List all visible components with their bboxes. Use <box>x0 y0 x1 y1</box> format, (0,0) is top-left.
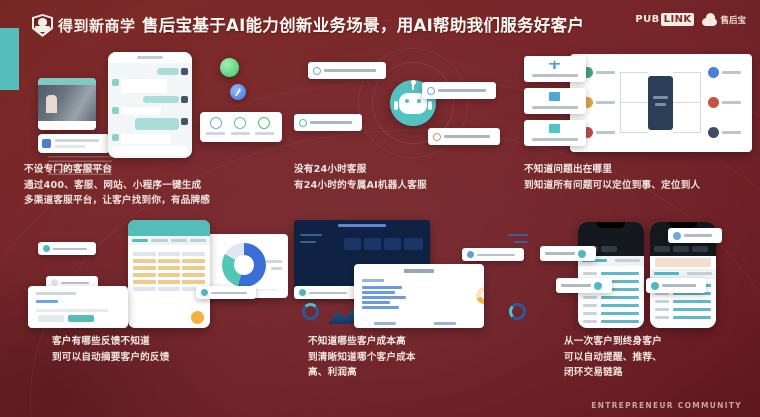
caption-line: 不知道问题出在哪里 <box>524 162 760 178</box>
cell-ai-robot-service: 没有24小时客服 有24小时的专属AI机器人客服 <box>294 50 526 215</box>
callout-pill <box>668 228 722 243</box>
brand: 得到新商学 <box>32 14 136 37</box>
label-chip <box>294 286 356 299</box>
bi-dashboard-mock <box>294 220 534 328</box>
side-tab <box>524 56 586 82</box>
partner-logo: 售后宝 <box>702 13 746 26</box>
cell-issue-routing: 不知道问题出在哪里 到知道所有问题可以定位到事、定位到人 <box>524 50 760 215</box>
ticket-table <box>133 252 205 294</box>
table-row <box>133 259 205 263</box>
table-row <box>133 287 205 291</box>
caption-line: 多渠道客服平台，让客户找到你，有品牌感 <box>24 193 286 209</box>
analytics-card <box>354 264 484 328</box>
list-item <box>655 300 711 303</box>
ai-robot-mock <box>294 50 526 158</box>
table-row <box>133 266 205 270</box>
cloud-icon <box>702 13 717 26</box>
routing-source-node <box>582 127 615 138</box>
caption-line: 没有24小时客服 <box>294 162 526 178</box>
mobile-app-mock <box>540 220 760 328</box>
list-item <box>655 308 711 311</box>
caption-cost-profit-analytics: 不知道哪些客户成本高 到清晰知道哪个客户成本 高、利润高 <box>308 334 548 381</box>
list-item <box>583 272 639 275</box>
list-item <box>583 304 639 307</box>
confirm-button[interactable] <box>68 315 94 322</box>
feature-tag <box>294 114 362 131</box>
caption-ai-robot-service: 没有24小时客服 有24小时的专属AI机器人客服 <box>294 162 526 193</box>
feedback-dashboard-mock <box>24 220 286 328</box>
cell-multichannel-service: 不设专门的客服平台 通过400、客服、网站、小程序一键生成 多渠道客服平台，让客… <box>24 50 286 215</box>
table-row <box>133 252 205 256</box>
caption-line: 到知道所有问题可以定位到事、定位到人 <box>524 178 760 194</box>
content-grid: 不设专门的客服平台 通过400、客服、网站、小程序一键生成 多渠道客服平台，让客… <box>0 48 760 396</box>
caption-line: 不设专门的客服平台 <box>24 162 286 178</box>
routing-diagram-mock <box>524 50 760 158</box>
slide-canvas: 得到新商学 售后宝基于AI能力创新业务场景，用AI帮助我们服务好客户 PUB L… <box>0 0 760 417</box>
routing-source-node <box>582 67 615 78</box>
brand-name: 得到新商学 <box>58 15 136 36</box>
status-dot-green <box>220 58 239 77</box>
hierarchy-icon <box>549 60 560 69</box>
list-item <box>583 296 639 299</box>
doc-icon <box>42 139 51 148</box>
slide-header: 得到新商学 售后宝基于AI能力创新业务场景，用AI帮助我们服务好客户 PUB L… <box>0 0 760 48</box>
caption-line: 到清晰知道哪个客户成本 <box>308 350 548 366</box>
callout-pill <box>540 246 596 261</box>
list-item <box>583 312 639 315</box>
table-row <box>133 280 205 284</box>
footer-text: ENTREPRENEUR COMMUNITY <box>591 401 742 410</box>
cell-feedback-summary: 客户有哪些反馈不知道 到可以自动摘要客户的反馈 <box>24 220 286 392</box>
phone-mock-left <box>578 222 644 328</box>
routing-board <box>570 54 752 152</box>
caption-lifetime-customer: 从一次客户到终身客户 可以自动提醒、推荐、 闭环交易链路 <box>564 334 760 381</box>
list-item <box>583 320 639 323</box>
publink-link-text: LINK <box>661 13 695 26</box>
caption-line: 有24小时的专属AI机器人客服 <box>294 178 526 194</box>
table-row <box>133 273 205 277</box>
routing-hub-node <box>648 76 673 130</box>
feature-tag <box>422 82 496 99</box>
label-chip <box>38 242 96 255</box>
shield-scholar-icon <box>32 14 53 37</box>
side-tab <box>524 120 586 146</box>
action-toolbar <box>200 112 282 142</box>
cell-cost-profit-analytics: 不知道哪些客户成本高 到清晰知道哪个客户成本 高、利润高 <box>294 220 534 392</box>
page-title: 售后宝基于AI能力创新业务场景，用AI帮助我们服务好客户 <box>142 12 584 36</box>
routing-target-node <box>708 67 741 78</box>
caption-multichannel-service: 不设专门的客服平台 通过400、客服、网站、小程序一键生成 多渠道客服平台，让客… <box>24 162 286 209</box>
grid-icon <box>549 124 560 133</box>
caption-issue-routing: 不知道问题出在哪里 到知道所有问题可以定位到事、定位到人 <box>524 162 760 193</box>
feature-tag <box>428 128 500 145</box>
label-chip <box>196 286 256 299</box>
form-buttons <box>38 315 94 322</box>
cancel-button[interactable] <box>38 315 64 322</box>
calendar-icon <box>549 92 560 101</box>
publink-pub-text: PUB <box>635 14 659 25</box>
donut-chart <box>222 243 266 287</box>
routing-target-node <box>708 97 741 108</box>
routing-target-node <box>708 127 741 138</box>
note-card <box>38 134 110 153</box>
fab-button[interactable] <box>191 311 204 324</box>
caption-line: 可以自动提醒、推荐、 <box>564 350 760 366</box>
caption-line: 高、利润高 <box>308 365 548 381</box>
partner-logos: PUB LINK 售后宝 <box>635 13 746 26</box>
chat-phone-mock <box>108 52 192 158</box>
callout-pill <box>646 278 706 293</box>
routing-source-node <box>582 97 615 108</box>
ticket-panel <box>128 220 210 328</box>
feature-tag <box>308 62 386 79</box>
caption-feedback-summary: 客户有哪些反馈不知道 到可以自动摘要客户的反馈 <box>52 334 314 365</box>
cell-lifetime-customer: 从一次客户到终身客户 可以自动提醒、推荐、 闭环交易链路 <box>540 220 760 392</box>
side-tab <box>524 88 586 114</box>
callout-pill <box>556 278 612 293</box>
caption-line: 从一次客户到终身客户 <box>564 334 760 350</box>
chat-platform-mock <box>24 50 286 158</box>
list-item <box>655 316 711 319</box>
video-card <box>38 78 96 130</box>
caption-line: 闭环交易链路 <box>564 365 760 381</box>
label-chip <box>462 248 524 261</box>
cursor-pointer-icon <box>230 84 246 100</box>
caption-line: 通过400、客服、网站、小程序一键生成 <box>24 178 286 194</box>
caption-line: 到可以自动摘要客户的反馈 <box>52 350 314 366</box>
caption-line: 不知道哪些客户成本高 <box>308 334 548 350</box>
publink-logo: PUB LINK <box>635 13 694 26</box>
partner-name: 售后宝 <box>720 14 746 26</box>
caption-line: 客户有哪些反馈不知道 <box>52 334 314 350</box>
feedback-form-card <box>28 286 128 328</box>
